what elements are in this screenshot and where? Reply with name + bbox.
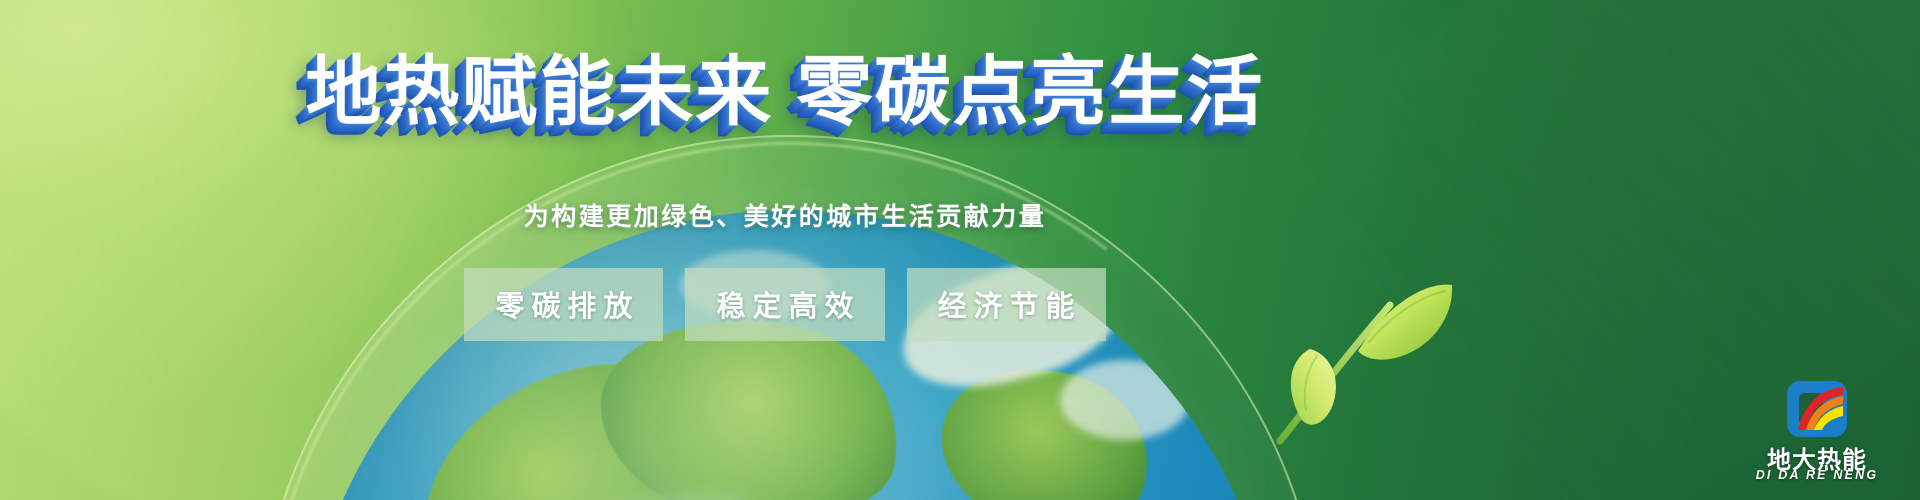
feature-tag-stable-efficient[interactable]: 稳定高效 (685, 268, 884, 341)
page-subtitle: 为构建更加绿色、美好的城市生活贡献力量 (0, 197, 1570, 233)
feature-tag-zero-carbon[interactable]: 零碳排放 (464, 268, 663, 341)
page-title: 地热赋能未来 零碳点亮生活 (0, 52, 1570, 134)
feature-tag-economical-saving[interactable]: 经济节能 (907, 268, 1106, 341)
banner-content: 地热赋能未来 零碳点亮生活 为构建更加绿色、美好的城市生活贡献力量 零碳排放 稳… (0, 0, 1920, 500)
rainbow-square-logo-icon (1786, 380, 1848, 438)
company-logo[interactable]: 地大热能 DI DA RE NENG (1742, 380, 1892, 492)
logo-company-name-en: DI DA RE NENG (1742, 468, 1892, 482)
feature-tag-list: 零碳排放 稳定高效 经济节能 (0, 268, 1570, 341)
hero-banner: 地热赋能未来 零碳点亮生活 为构建更加绿色、美好的城市生活贡献力量 零碳排放 稳… (0, 0, 1920, 500)
